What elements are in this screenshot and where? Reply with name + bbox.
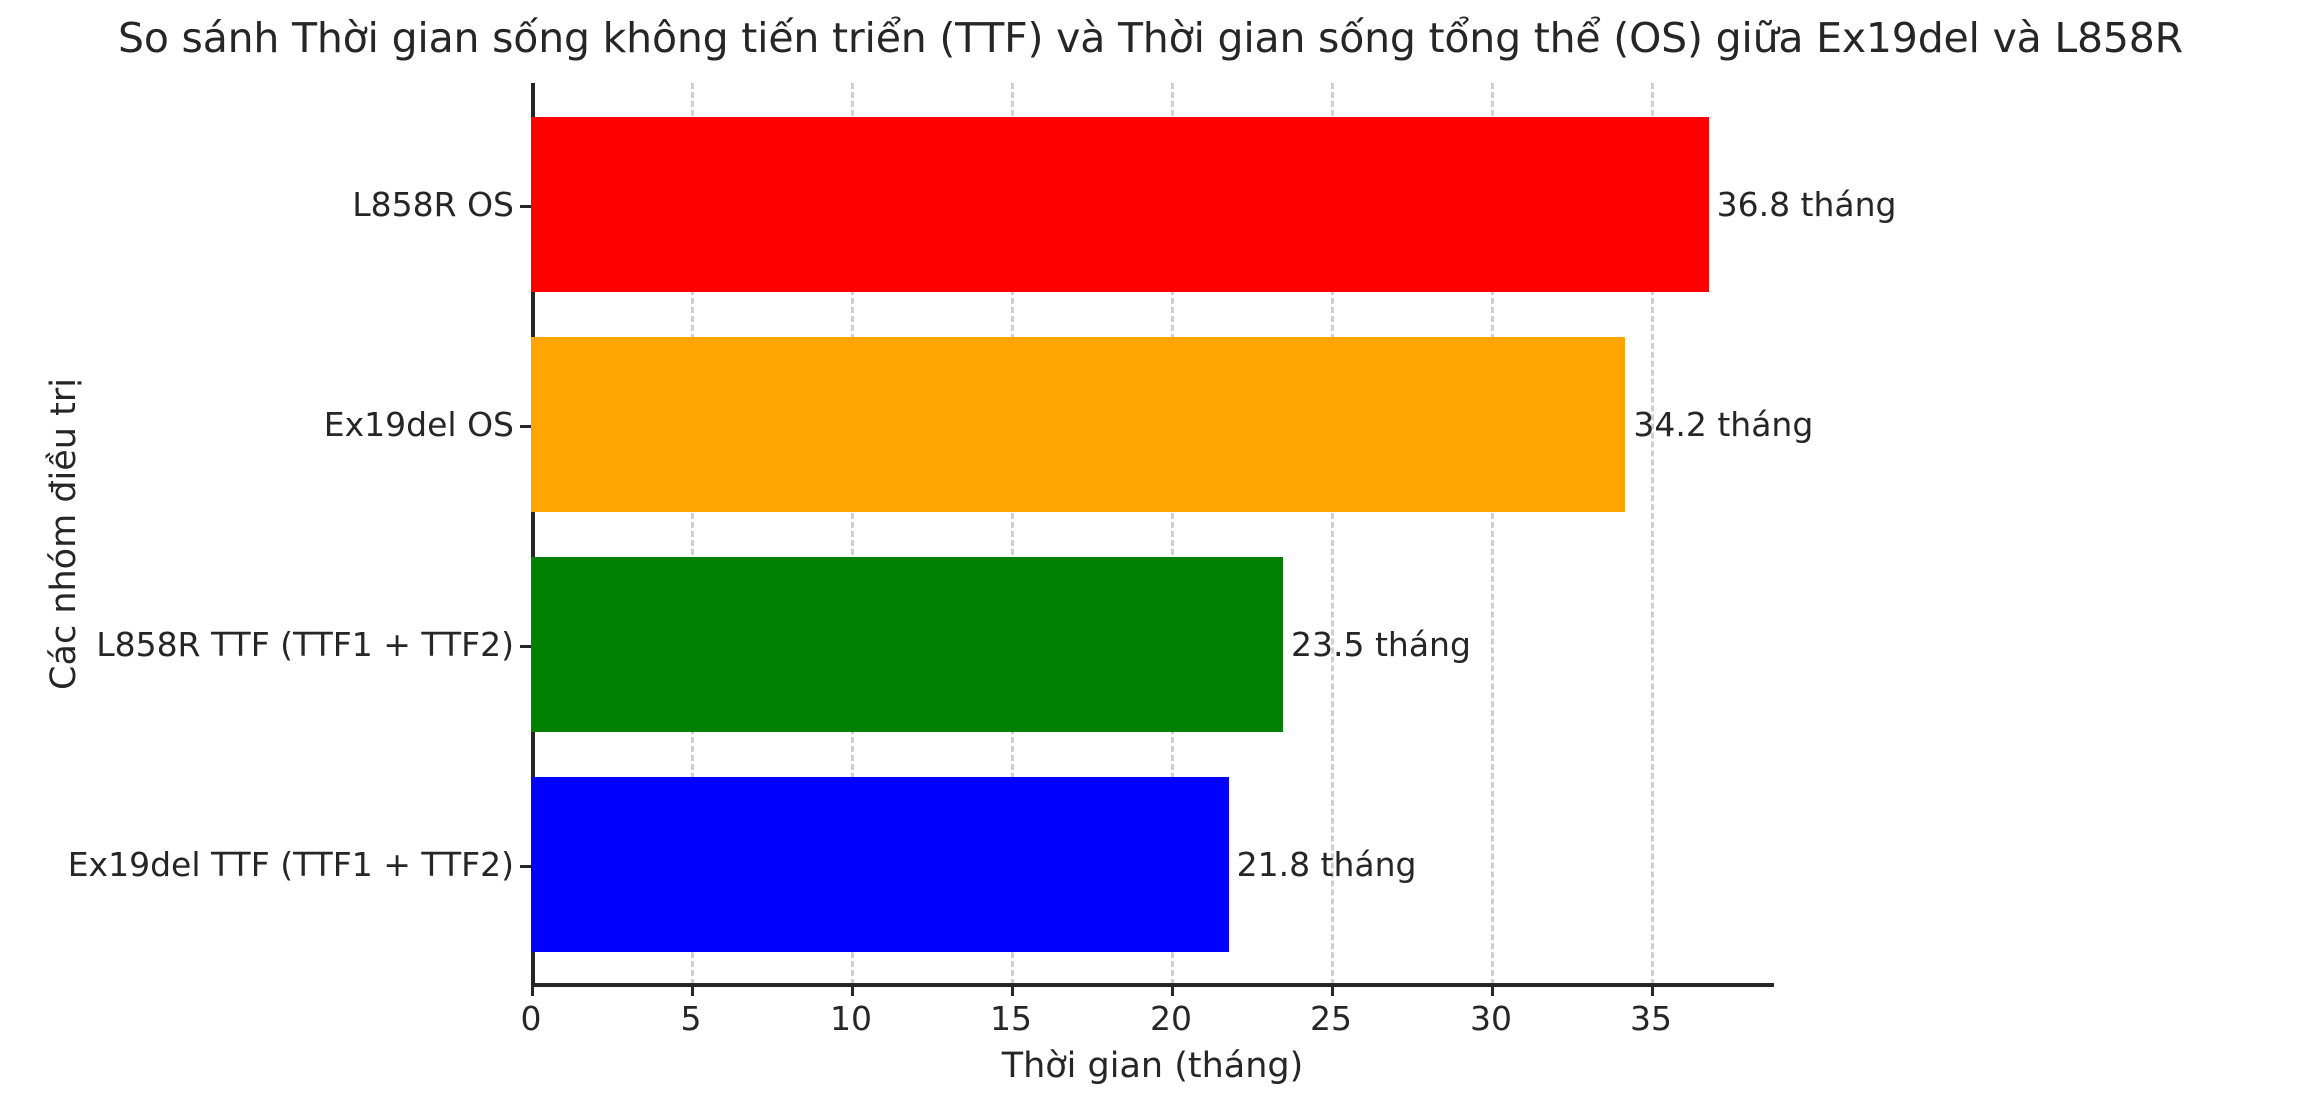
x-tick-mark — [1331, 985, 1334, 996]
bar — [531, 777, 1229, 952]
x-tick-mark — [1011, 985, 1014, 996]
x-tick-mark — [1491, 985, 1494, 996]
x-tick-mark — [691, 985, 694, 996]
y-tick-label: Ex19del TTF (TTF1 + TTF2) — [68, 845, 514, 885]
bar-value-label: 21.8 tháng — [1237, 845, 1417, 885]
y-tick-label: L858R OS — [352, 185, 514, 225]
chart-title: So sánh Thời gian sống không tiến triển … — [0, 14, 2301, 62]
x-tick-mark — [1651, 985, 1654, 996]
x-tick-mark — [531, 985, 534, 996]
bar-value-label: 36.8 tháng — [1717, 185, 1897, 225]
bar-value-label: 34.2 tháng — [1633, 405, 1813, 445]
x-tick-label: 25 — [1271, 999, 1391, 1039]
y-tick-label: Ex19del OS — [324, 405, 514, 445]
x-axis-title: Thời gian (tháng) — [531, 1045, 1774, 1087]
y-axis-title: Các nhóm điều trị — [38, 83, 90, 985]
bar — [531, 117, 1709, 292]
bar — [531, 337, 1625, 512]
bar-chart-figure: So sánh Thời gian sống không tiến triển … — [0, 0, 2301, 1107]
x-tick-label: 20 — [1111, 999, 1231, 1039]
x-tick-label: 0 — [471, 999, 591, 1039]
x-tick-label: 30 — [1431, 999, 1551, 1039]
bar — [531, 557, 1283, 732]
x-tick-mark — [1171, 985, 1174, 996]
y-tick-label: L858R TTF (TTF1 + TTF2) — [96, 625, 514, 665]
x-tick-mark — [851, 985, 854, 996]
bar-value-label: 23.5 tháng — [1291, 625, 1471, 665]
x-tick-label: 35 — [1591, 999, 1711, 1039]
x-axis-spine — [531, 983, 1774, 987]
x-tick-label: 15 — [951, 999, 1071, 1039]
x-tick-label: 10 — [791, 999, 911, 1039]
x-tick-label: 5 — [631, 999, 751, 1039]
